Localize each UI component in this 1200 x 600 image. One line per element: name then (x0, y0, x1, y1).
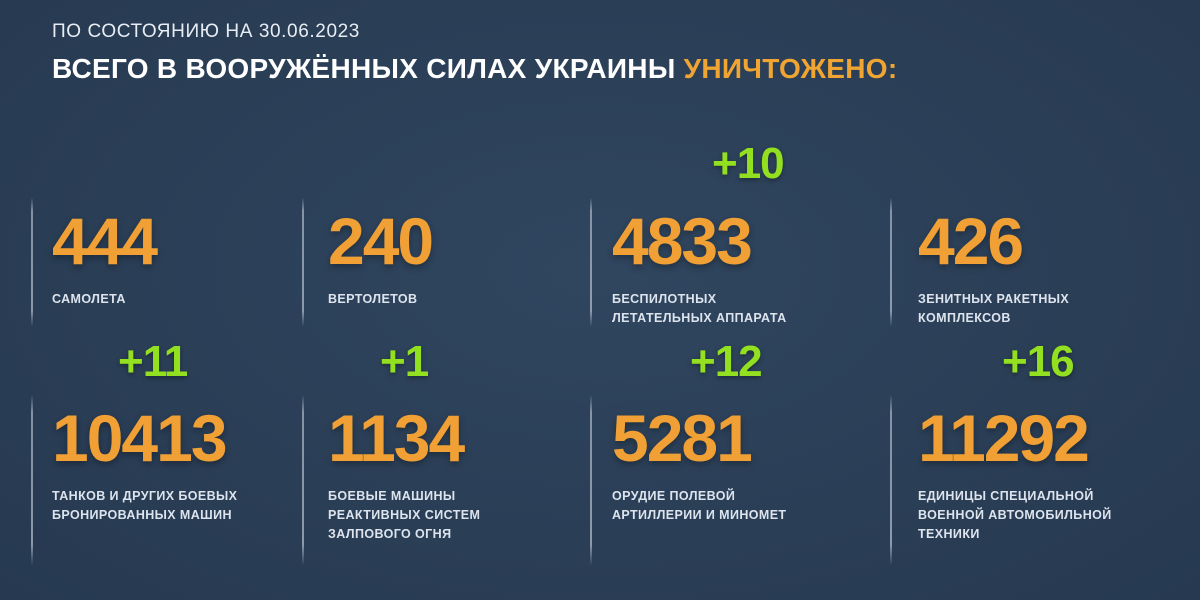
stat-delta-badge: +12 (690, 340, 762, 384)
stat-value: 240 (328, 208, 432, 274)
stat-value: 10413 (52, 405, 226, 471)
stat-label: Боевые машины реактивных систем залповог… (328, 487, 480, 543)
stat-value: 4833 (612, 208, 751, 274)
stat-cell-aircraft: 444 Самолета (0, 130, 300, 335)
cell-divider (31, 198, 33, 326)
stat-value: 426 (918, 208, 1022, 274)
page-title-accent: УНИЧТОЖЕНО: (684, 53, 898, 84)
stat-cell-uav: +10 4833 Беспилотных летательных аппарат… (590, 130, 890, 335)
stat-cell-artillery: +12 5281 Орудие полевой артиллерии и мин… (590, 335, 890, 580)
stat-label: Зенитных ракетных комплексов (918, 290, 1069, 328)
infographic-root: ПО СОСТОЯНИЮ НА 30.06.2023 ВСЕГО В ВООРУ… (0, 0, 1200, 600)
page-title-main: ВСЕГО В ВООРУЖЁННЫХ СИЛАХ УКРАИНЫ (52, 53, 684, 84)
stat-delta-badge: +11 (118, 340, 187, 384)
stat-value: 5281 (612, 405, 751, 471)
stat-delta-badge: +10 (712, 142, 784, 186)
cell-divider (590, 198, 592, 326)
stat-value: 444 (52, 208, 156, 274)
stat-value: 1134 (328, 405, 463, 471)
stat-label: Беспилотных летательных аппарата (612, 290, 787, 328)
stat-delta-badge: +16 (1002, 340, 1074, 384)
stat-cell-tanks: +11 10413 Танков и других боевых брониро… (0, 335, 300, 580)
stat-cell-mlrs: +1 1134 Боевые машины реактивных систем … (300, 335, 590, 580)
report-date: ПО СОСТОЯНИЮ НА 30.06.2023 (52, 22, 1172, 43)
cell-divider (890, 395, 892, 565)
stat-label: Вертолетов (328, 290, 417, 309)
stat-cell-helicopters: 240 Вертолетов (300, 130, 590, 335)
cell-divider (590, 395, 592, 565)
stat-label: Танков и других боевых бронированных маш… (52, 487, 237, 525)
stats-row-1: 444 Самолета 240 Вертолетов +10 4833 Бес… (0, 130, 1200, 335)
stat-label: Орудие полевой артиллерии и миномет (612, 487, 786, 525)
cell-divider (302, 395, 304, 565)
cell-divider (31, 395, 33, 565)
page-title: ВСЕГО В ВООРУЖЁННЫХ СИЛАХ УКРАИНЫ УНИЧТО… (52, 53, 1172, 85)
stats-grid: 444 Самолета 240 Вертолетов +10 4833 Бес… (0, 130, 1200, 580)
stat-cell-military-vehicles: +16 11292 Единицы специальной военной ав… (890, 335, 1200, 580)
header: ПО СОСТОЯНИЮ НА 30.06.2023 ВСЕГО В ВООРУ… (52, 22, 1172, 85)
stat-cell-sam-systems: 426 Зенитных ракетных комплексов (890, 130, 1200, 335)
stat-label: Единицы специальной военной автомобильно… (918, 487, 1112, 543)
stat-value: 11292 (918, 405, 1088, 471)
stats-row-2: +11 10413 Танков и других боевых брониро… (0, 335, 1200, 580)
stat-label: Самолета (52, 290, 126, 309)
cell-divider (302, 198, 304, 326)
stat-delta-badge: +1 (380, 340, 428, 384)
cell-divider (890, 198, 892, 326)
